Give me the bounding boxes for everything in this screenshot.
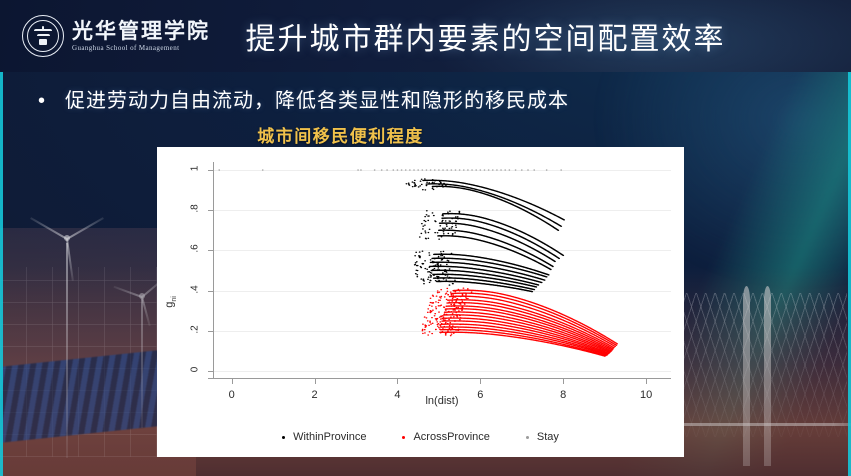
y-tick-label: .8: [183, 203, 207, 214]
slide-title: 提升城市群内要素的空间配置效率: [0, 0, 851, 72]
chart-panel: gni 0.2.4.6.81 0246810 ln(dist) WithinPr…: [157, 147, 684, 457]
series-withinprovince: [406, 178, 565, 292]
chart-sub-heading: 城市间移民便利程度: [0, 122, 851, 147]
y-tick-label: 0: [183, 364, 207, 375]
plot-area: 0.2.4.6.81 0246810: [213, 162, 671, 379]
legend-marker-icon: [526, 436, 529, 439]
y-tick-label: .6: [183, 243, 207, 254]
x-tick: [563, 379, 564, 384]
legend-label: AcrossProvince: [413, 431, 489, 443]
legend-label: WithinProvince: [293, 431, 366, 443]
y-tick-label: 1: [183, 163, 207, 174]
x-tick: [315, 379, 316, 384]
legend-item-acrossprovince[interactable]: AcrossProvince: [402, 431, 489, 443]
x-tick: [397, 379, 398, 384]
legend-label: Stay: [537, 431, 559, 443]
y-tick-label: .4: [183, 284, 207, 295]
x-axis-label: ln(dist): [213, 395, 671, 407]
x-tick: [480, 379, 481, 384]
bullet-marker-icon: •: [38, 88, 45, 114]
x-tick: [646, 379, 647, 384]
legend-marker-icon: [402, 436, 405, 439]
cable-stayed-bridge-icon: [725, 286, 789, 466]
series-acrossprovince: [422, 287, 618, 356]
bullet-text: 促进劳动力自由流动，降低各类显性和隐形的移民成本: [65, 88, 569, 114]
legend-marker-icon: [282, 436, 285, 439]
x-tick: [232, 379, 233, 384]
legend-item-withinprovince[interactable]: WithinProvince: [282, 431, 366, 443]
data-series-plot: [213, 162, 671, 379]
bullet-point: • 促进劳动力自由流动，降低各类显性和隐形的移民成本: [38, 88, 678, 114]
y-tick-label: .2: [183, 324, 207, 335]
series-stay: [218, 169, 562, 170]
slide-canvas: 光华管理学院 Guanghua School of Management 提升城…: [0, 0, 851, 476]
plot-wrapper: gni 0.2.4.6.81 0246810 ln(dist) WithinPr…: [157, 147, 684, 457]
y-axis-label: gni: [164, 296, 178, 308]
chart-legend: WithinProvinceAcrossProvinceStay: [157, 431, 684, 443]
legend-item-stay[interactable]: Stay: [526, 431, 559, 443]
wind-turbine-icon: [22, 208, 112, 458]
